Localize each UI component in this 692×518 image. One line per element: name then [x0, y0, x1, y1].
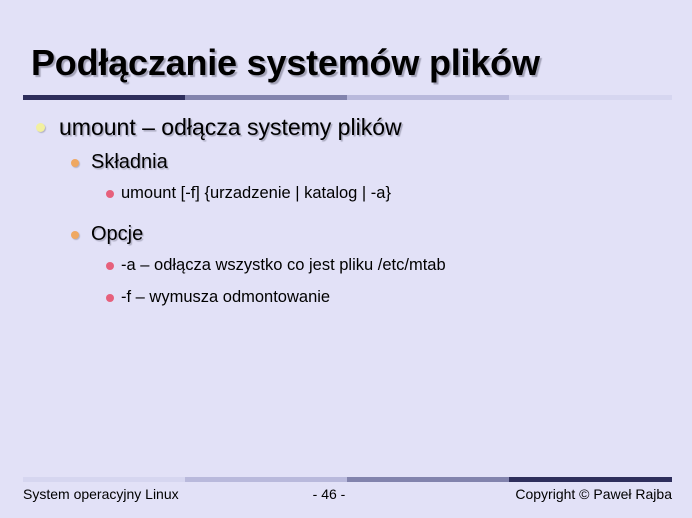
- bullet-item-level2: Opcje: [0, 221, 692, 248]
- bullet-item-label: -a – odłącza wszystko co jest pliku /etc…: [121, 254, 446, 277]
- bullet-item-label: umount – odłącza systemy plików: [59, 112, 402, 142]
- slide-canvas: Podłączanie systemów plików umount – odł…: [0, 0, 692, 518]
- divider-segment-4: [509, 95, 672, 100]
- divider-segment-3: [347, 95, 509, 100]
- title-divider: [23, 95, 672, 100]
- bullet-item-level3: umount [-f] {urzadzenie | katalog | -a}: [0, 182, 692, 205]
- bullet-item-label: -f – wymusza odmontowanie: [121, 286, 330, 309]
- footer-course-label: System operacyjny Linux: [23, 486, 179, 502]
- yellow-bullet-icon: [36, 123, 45, 132]
- footer-page-number: - 46 -: [179, 486, 516, 502]
- divider-segment-2: [185, 95, 347, 100]
- footer-divider: [23, 477, 672, 482]
- bullet-item-label: Składnia: [91, 149, 168, 176]
- divider-segment-1: [23, 95, 185, 100]
- bullet-item-label: Opcje: [91, 221, 143, 248]
- bullet-item-level1: umount – odłącza systemy plików: [0, 112, 692, 142]
- divider-segment-3: [347, 477, 509, 482]
- footer-copyright: Copyright © Paweł Rajba: [515, 486, 672, 502]
- pink-bullet-icon: [106, 294, 114, 302]
- pink-bullet-icon: [106, 262, 114, 270]
- bullet-item-level3: -f – wymusza odmontowanie: [0, 286, 692, 309]
- slide-content-list: umount – odłącza systemy plikówSkładniau…: [0, 112, 692, 318]
- pink-bullet-icon: [106, 190, 114, 198]
- bullet-item-level2: Składnia: [0, 149, 692, 176]
- slide-footer: System operacyjny Linux - 46 - Copyright…: [23, 484, 672, 504]
- divider-segment-1: [23, 477, 185, 482]
- orange-bullet-icon: [71, 159, 79, 167]
- bullet-item-label: umount [-f] {urzadzenie | katalog | -a}: [121, 182, 391, 205]
- page-title: Podłączanie systemów plików: [31, 40, 671, 86]
- bullet-item-level3: -a – odłącza wszystko co jest pliku /etc…: [0, 254, 692, 277]
- divider-segment-4: [509, 477, 672, 482]
- divider-segment-2: [185, 477, 347, 482]
- list-spacer: [0, 214, 692, 221]
- orange-bullet-icon: [71, 231, 79, 239]
